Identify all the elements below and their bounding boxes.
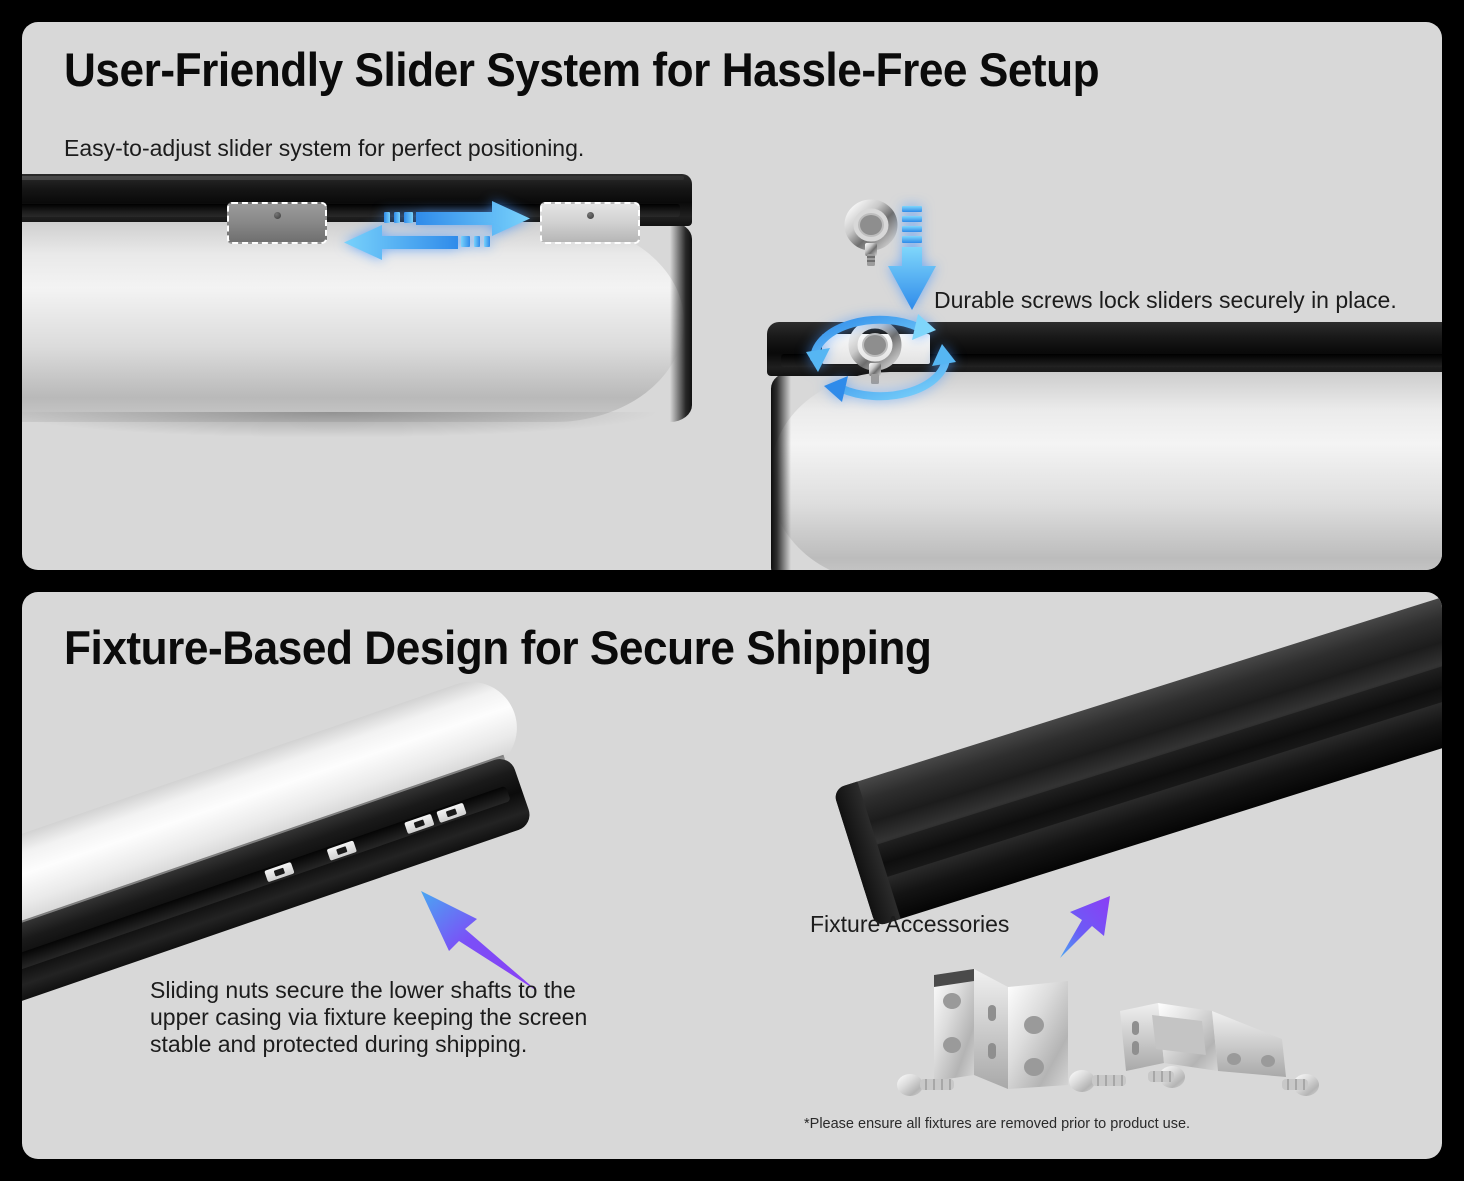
insert-arrow-down-icon (884, 204, 940, 316)
pan-head-screw (1148, 1066, 1185, 1088)
pointer-arrow-fixture-icon (1044, 892, 1116, 964)
casing-end-cap-left (771, 372, 791, 570)
caption-slider-positioning: Easy-to-adjust slider system for perfect… (64, 134, 584, 162)
slide-arrow-left-icon (340, 222, 522, 270)
infographic-stage: User-Friendly Slider System for Hassle-F… (0, 0, 1464, 1181)
footnote-fixture-removal: *Please ensure all fixtures are removed … (804, 1116, 1190, 1134)
product-diagonal-right (842, 592, 1442, 942)
panel-fixture-design: Fixture-Based Design for Secure Shipping (22, 592, 1442, 1159)
bracket-l-shaped (934, 969, 1068, 1089)
slider-block-right[interactable] (540, 202, 640, 244)
bracket-l-shaped (1120, 1003, 1286, 1077)
page-title-slider-system: User-Friendly Slider System for Hassle-F… (64, 42, 1099, 97)
screw-head-icon (587, 212, 594, 219)
rail-highlight (22, 176, 684, 180)
casing-drop-shadow (22, 412, 662, 438)
casing-end-cap-right (670, 222, 692, 422)
rotate-arrow-icon (800, 304, 960, 412)
pan-head-screw (1069, 1070, 1126, 1092)
caption-durable-screws: Durable screws lock sliders securely in … (934, 286, 1397, 314)
caption-sliding-nuts: Sliding nuts secure the lower shafts to … (150, 977, 587, 1058)
slider-block-left[interactable] (227, 202, 327, 244)
pan-head-screw (1282, 1074, 1319, 1096)
screw-head-icon (274, 212, 281, 219)
label-fixture-accessories: Fixture Accessories (810, 910, 1009, 938)
fixture-accessories-group (882, 967, 1322, 1112)
panel-slider-system: User-Friendly Slider System for Hassle-F… (22, 22, 1442, 570)
